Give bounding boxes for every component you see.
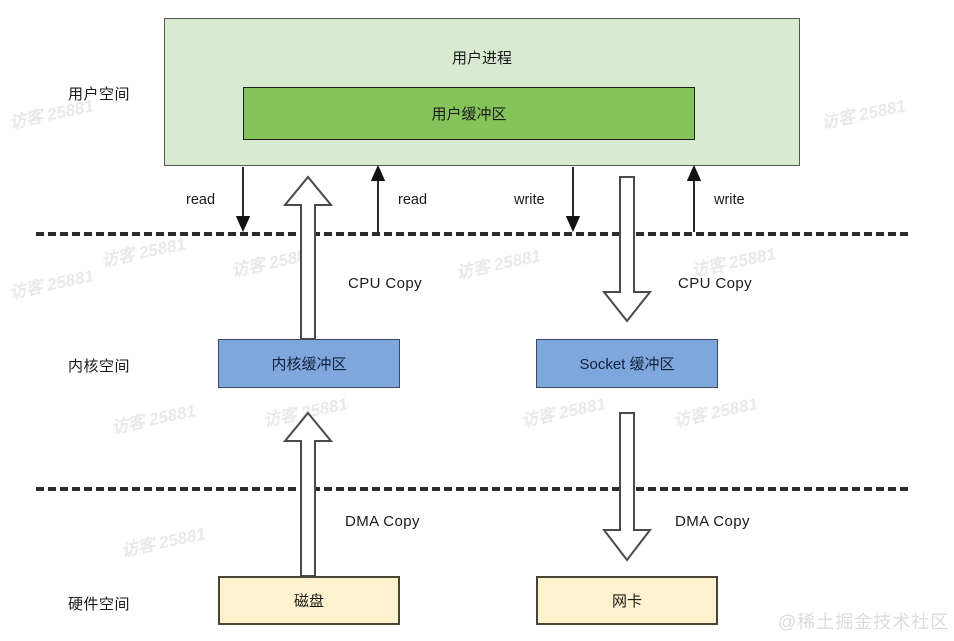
box-network-card-label: 网卡 [612, 590, 642, 611]
divider-kernel-hardware [36, 487, 908, 491]
block-arrow-dma-copy-read [285, 413, 331, 576]
box-user-process-label: 用户进程 [165, 47, 799, 68]
box-network-card[interactable]: 网卡 [536, 576, 718, 625]
watermark-text: 访客 25881 [108, 396, 197, 438]
zone-label-hardware-space: 硬件空间 [68, 593, 130, 614]
watermark-text: 访客 25881 [6, 261, 95, 303]
zone-label-kernel-space: 内核空间 [68, 355, 130, 376]
brand-watermark: @稀土掘金技术社区 [778, 608, 949, 634]
divider-user-kernel [36, 232, 908, 236]
label-write-call: write [514, 192, 545, 208]
label-cpu-copy-right: CPU Copy [678, 275, 752, 292]
box-socket-buffer-label: Socket 缓冲区 [579, 353, 674, 374]
label-read-return: read [398, 192, 427, 208]
label-write-return: write [714, 192, 745, 208]
box-kernel-buffer-label: 内核缓冲区 [271, 353, 346, 374]
block-arrow-cpu-copy-write [604, 177, 650, 321]
watermark-text: 访客 25881 [518, 389, 607, 431]
box-user-buffer-label: 用户缓冲区 [431, 103, 506, 124]
label-cpu-copy-left: CPU Copy [348, 275, 422, 292]
label-dma-copy-left: DMA Copy [345, 513, 420, 530]
watermark-text: 访客 25881 [260, 389, 349, 431]
watermark-text: 访客 25881 [453, 241, 542, 283]
label-dma-copy-right: DMA Copy [675, 513, 750, 530]
box-disk-label: 磁盘 [294, 590, 324, 611]
zone-label-user-space: 用户空间 [68, 83, 130, 104]
diagram-canvas: 访客 25881 访客 25881 访客 25881 访客 25881 访客 2… [0, 0, 954, 641]
box-kernel-buffer[interactable]: 内核缓冲区 [218, 339, 400, 388]
watermark-text: 访客 25881 [670, 389, 759, 431]
box-user-buffer[interactable]: 用户缓冲区 [243, 87, 695, 140]
watermark-text: 访客 25881 [818, 91, 907, 133]
box-disk[interactable]: 磁盘 [218, 576, 400, 625]
watermark-text: 访客 25881 [118, 519, 207, 561]
watermark-text: 访客 25881 [228, 239, 317, 281]
box-socket-buffer[interactable]: Socket 缓冲区 [536, 339, 718, 388]
label-read-call: read [186, 192, 215, 208]
